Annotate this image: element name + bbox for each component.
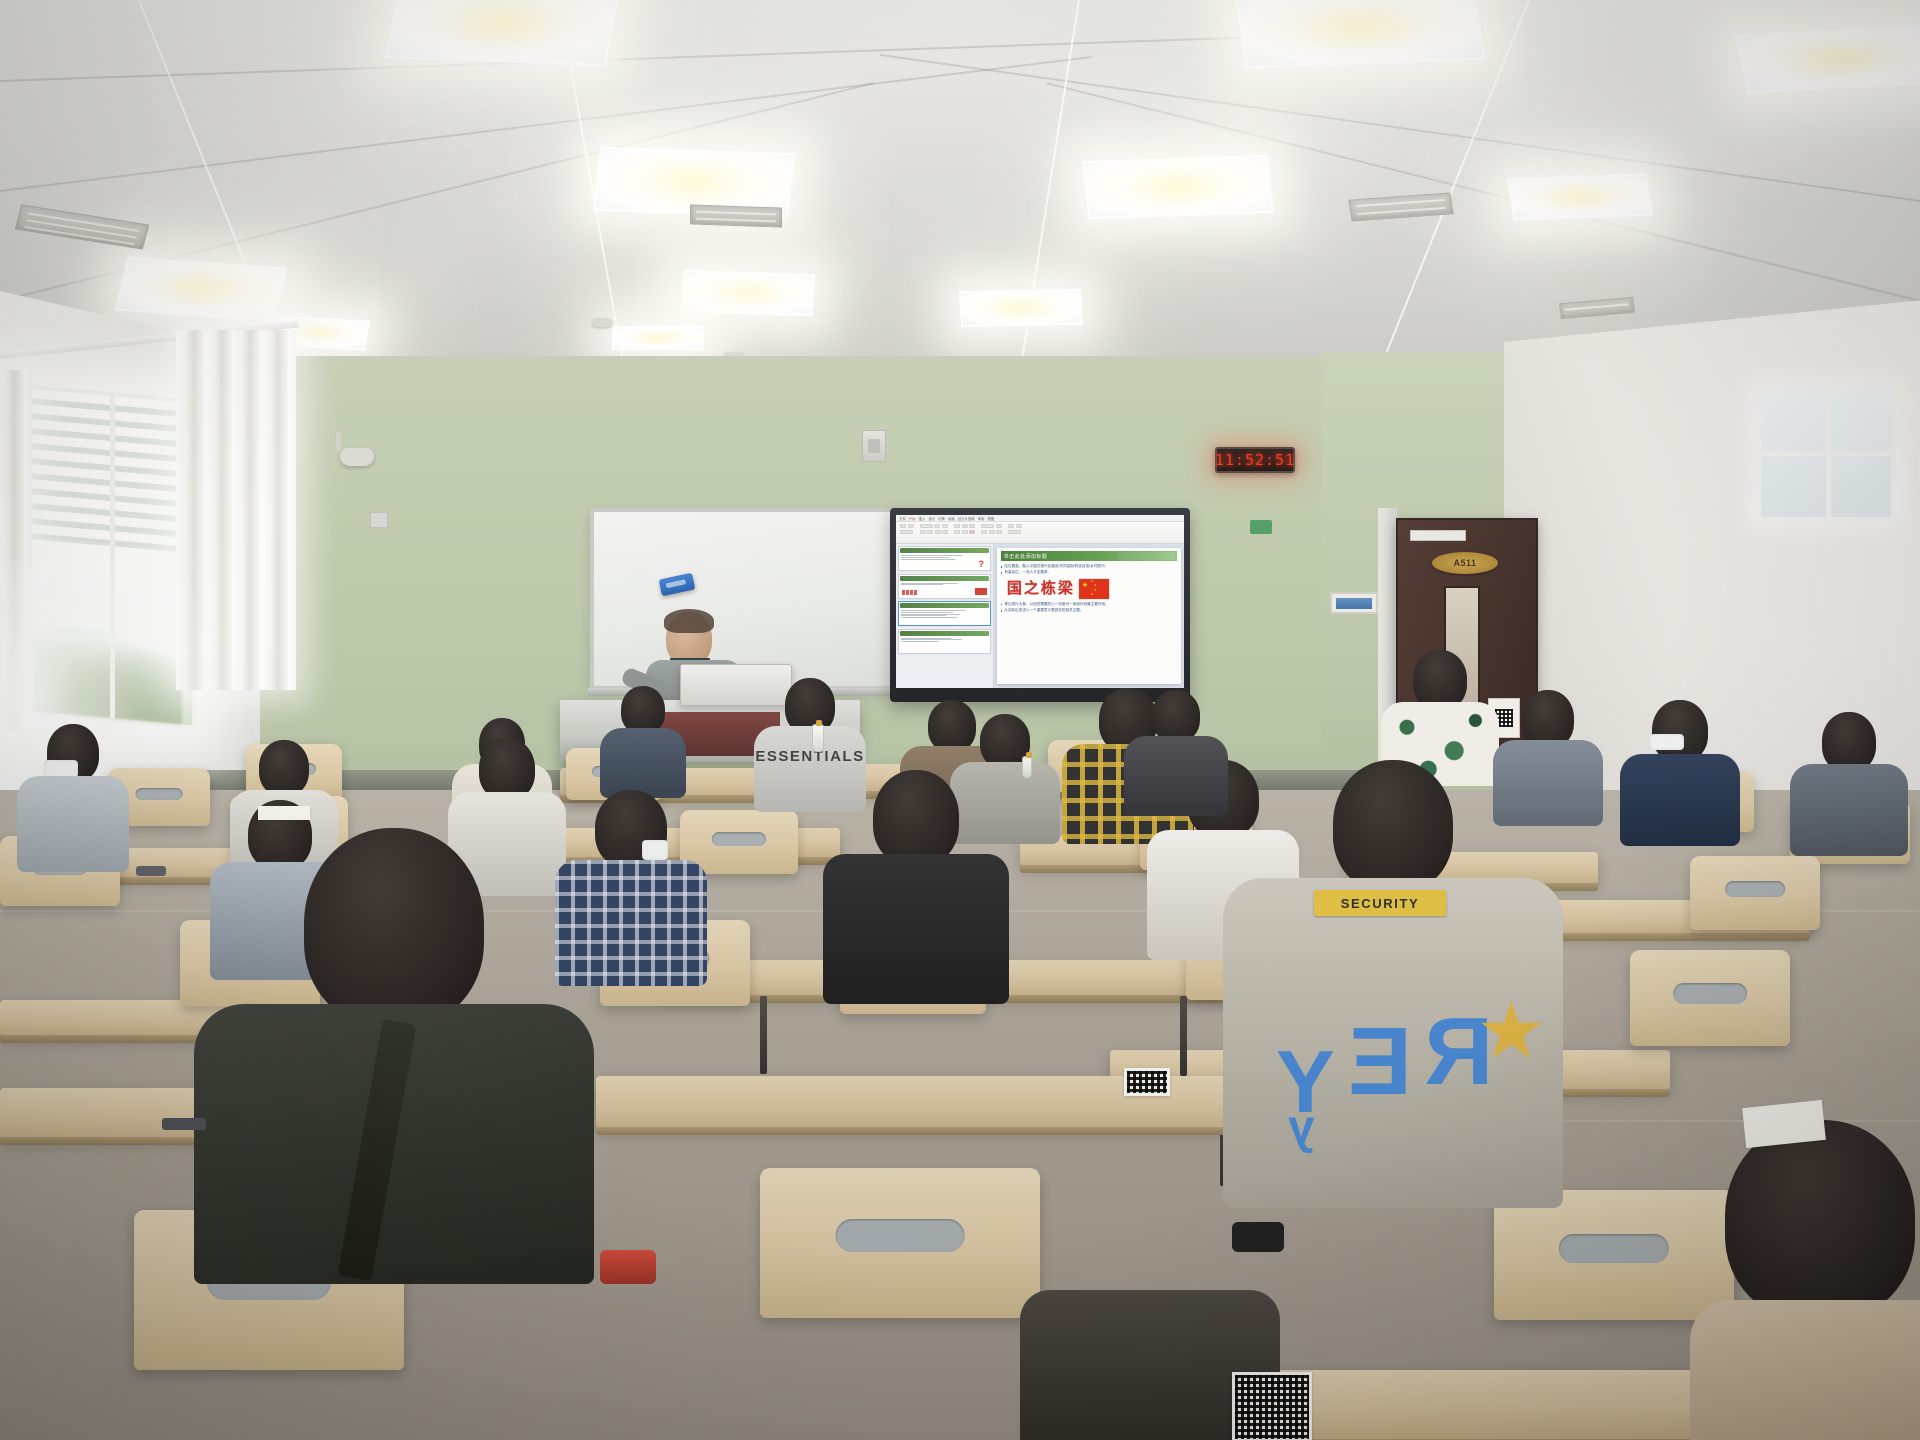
slide-bullet: 站位要高，融入中国式现代化建设/共同富裕/科技自强/乡村振兴/ — [1001, 564, 1177, 568]
classroom-photo: 11:52:51 A511 文件 开始 插入 设计 切换 动画 幻灯片放映 审阅… — [0, 0, 1920, 1440]
student-chair — [1494, 1190, 1734, 1320]
student-torso — [1690, 1300, 1920, 1440]
left-window — [24, 384, 196, 729]
led-panel-light — [1082, 155, 1273, 219]
ppt-ribbon[interactable] — [896, 522, 1184, 544]
water-bottle — [812, 724, 824, 752]
room-number: A511 — [1453, 558, 1476, 568]
window-mullion — [110, 396, 115, 718]
student-torso — [17, 776, 129, 872]
slide-thumbnail[interactable] — [898, 629, 991, 654]
print-letter: ★ — [1480, 996, 1543, 1066]
desk-phone — [162, 1118, 206, 1130]
lecturer-hair — [664, 609, 714, 633]
ppt-tab-animations[interactable]: 动画 — [948, 516, 955, 521]
ppt-tab-view[interactable]: 视图 — [987, 516, 994, 521]
slide-bullet: 等比成行大象，以信党需要的小一流度可一身适作岗最主要作用。 — [1001, 602, 1177, 606]
student — [18, 724, 128, 874]
ppt-tab-design[interactable]: 设计 — [928, 516, 935, 521]
interactive-smart-display[interactable]: 文件 开始 插入 设计 切换 动画 幻灯片放映 审阅 视图 — [890, 508, 1190, 702]
ribbon-group-drawing[interactable] — [981, 524, 1002, 534]
white-curtain — [176, 330, 296, 690]
ribbon-group-editing[interactable] — [1008, 524, 1022, 534]
student-head — [479, 738, 535, 800]
led-panel-light — [611, 326, 704, 350]
ppt-tab-home[interactable]: 开始 — [909, 516, 916, 521]
student-head — [1822, 712, 1876, 772]
led-panel-light — [681, 270, 816, 317]
thumbnail-question-mark: ? — [978, 560, 984, 569]
student-security-jacket: SECURITY Y E R ★ y — [1228, 760, 1558, 1180]
face-mask — [642, 840, 668, 860]
student-torso — [1620, 754, 1740, 846]
thumbnail-chips — [902, 590, 917, 595]
student-head — [873, 770, 959, 866]
desk-paper — [258, 806, 310, 820]
desk-paper — [1742, 1100, 1826, 1148]
jacket-back-print: Y E R ★ y — [1266, 1000, 1546, 1150]
student — [826, 770, 1006, 1000]
smoke-detector — [592, 318, 612, 327]
slide-editor-pane[interactable]: 单击此处添加标题 站位要高，融入中国式现代化建设/共同富裕/科技自强/乡村振兴/… — [994, 544, 1184, 688]
student-head — [1413, 650, 1467, 710]
student — [556, 790, 706, 980]
ribbon-group-clipboard[interactable] — [900, 524, 914, 534]
slide-hero-row: 国之栋梁 ★ ★ ★ ★ ★ — [1007, 579, 1177, 599]
ppt-workspace[interactable]: ? — [896, 544, 1184, 688]
exit-indicator — [1250, 520, 1272, 534]
slide-title: 单击此处添加标题 — [1004, 553, 1047, 560]
student-head — [1333, 760, 1453, 892]
student-torso — [1790, 764, 1908, 856]
ppt-tab-transitions[interactable]: 切换 — [938, 516, 945, 521]
air-vent — [1348, 193, 1453, 222]
led-panel-light — [1735, 25, 1920, 93]
current-slide[interactable]: 单击此处添加标题 站位要高，融入中国式现代化建设/共同富裕/科技自强/乡村振兴/… — [997, 548, 1181, 684]
water-bottle — [1022, 756, 1032, 778]
student-torso — [600, 728, 686, 798]
bullet-text: 站位要高，融入中国式现代化建设/共同富裕/科技自强/乡村振兴/ — [1004, 564, 1105, 568]
desk-qr-sticker-front: 扫码查看课堂信息 — [1232, 1372, 1312, 1440]
ribbon-group-font[interactable] — [920, 524, 949, 534]
desk-qr-sticker-center — [1124, 1068, 1170, 1096]
student-foreground-left — [214, 828, 574, 1248]
face-mask — [1650, 734, 1684, 750]
ppt-tab-slideshow[interactable]: 幻灯片放映 — [958, 516, 975, 521]
security-patch: SECURITY — [1314, 890, 1446, 916]
wall-speaker-icon — [862, 430, 886, 462]
student — [1790, 712, 1908, 852]
shoe — [600, 1250, 656, 1284]
wall-control-panel[interactable] — [1330, 592, 1378, 614]
slide-title-decoration — [1117, 552, 1175, 560]
outdoor-foliage — [34, 623, 182, 724]
slide-thumbnail[interactable] — [898, 574, 991, 599]
slide-bullet: 从实际出发进入一个重要意义是其实的相关主题。 — [1001, 608, 1177, 612]
slide-thumbnail-pane[interactable]: ? — [896, 544, 994, 688]
white-curtain — [0, 370, 32, 730]
slide-bullet: 有高站位，一流人才定要求。 — [1001, 570, 1177, 574]
desk-phone — [136, 866, 166, 876]
display-screen[interactable]: 文件 开始 插入 设计 切换 动画 幻灯片放映 审阅 视图 — [896, 515, 1184, 688]
ppt-tab-bar[interactable]: 文件 开始 插入 设计 切换 动画 幻灯片放映 审阅 视图 — [896, 515, 1184, 522]
student-foreground-right — [1700, 1120, 1920, 1440]
student-head — [259, 740, 309, 796]
student — [1620, 700, 1740, 840]
air-vent — [15, 204, 149, 249]
clock-time: 11:52:51 — [1215, 451, 1295, 469]
led-wall-clock: 11:52:51 — [1215, 447, 1295, 473]
bullet-text: 等比成行大象，以信党需要的小一流度可一身适作岗最主要作用。 — [1004, 602, 1108, 606]
led-panel-light — [1235, 0, 1485, 68]
student-head — [621, 686, 665, 734]
student-head — [1725, 1120, 1915, 1320]
slide-title-bar: 单击此处添加标题 — [1001, 551, 1177, 561]
student-head — [1652, 700, 1708, 762]
led-panel-light — [1507, 174, 1653, 221]
wall-junction-box — [370, 512, 388, 528]
print-letter: y — [1288, 1104, 1315, 1152]
student-torso — [555, 860, 707, 986]
door-upper-label — [1410, 530, 1466, 541]
slide-bullet-list-lower: 等比成行大象，以信党需要的小一流度可一身适作岗最主要作用。 从实际出发进入一个重… — [1001, 602, 1177, 613]
slide-thumbnail[interactable]: ? — [898, 546, 991, 571]
student — [1124, 690, 1228, 810]
slide-hero-text: 国之栋梁 — [1007, 581, 1075, 596]
print-letter: E — [1348, 1014, 1412, 1110]
ppt-tab-insert[interactable]: 插入 — [919, 516, 926, 521]
led-panel-light — [385, 0, 621, 66]
slide-bullet-list: 站位要高，融入中国式现代化建设/共同富裕/科技自强/乡村振兴/ 有高站位，一流人… — [1001, 564, 1177, 575]
ppt-tab-review[interactable]: 审阅 — [978, 516, 985, 521]
shoe — [1232, 1222, 1284, 1252]
student-torso — [1124, 736, 1228, 816]
led-panel-light — [115, 256, 288, 321]
air-vent — [690, 204, 782, 227]
chinese-national-flag-icon: ★ ★ ★ ★ ★ — [1079, 579, 1109, 599]
student-chair — [1630, 950, 1790, 1046]
wall-camera-icon — [340, 448, 374, 466]
ribbon-group-paragraph[interactable] — [954, 524, 975, 534]
air-vent — [1559, 297, 1635, 319]
student — [600, 686, 686, 796]
bullet-text: 有高站位，一流人才定要求。 — [1004, 570, 1051, 574]
security-patch-text: SECURITY — [1341, 896, 1420, 911]
student-chair — [1690, 856, 1820, 930]
student-head — [1152, 690, 1200, 742]
thumbnail-red-block — [975, 588, 987, 595]
student-torso — [823, 854, 1009, 1004]
student-head — [304, 828, 484, 1026]
room-number-plaque: A511 — [1432, 552, 1498, 574]
bullet-text: 从实际出发进入一个重要意义是其实的相关主题。 — [1004, 608, 1083, 612]
shirt-text-essentials: ESSENTIALS — [755, 748, 864, 765]
slide-thumbnail-selected[interactable] — [898, 601, 991, 626]
right-window — [1756, 386, 1896, 522]
led-panel-light — [959, 289, 1083, 327]
student-chair — [760, 1168, 1040, 1318]
ppt-tab-file[interactable]: 文件 — [899, 516, 906, 521]
